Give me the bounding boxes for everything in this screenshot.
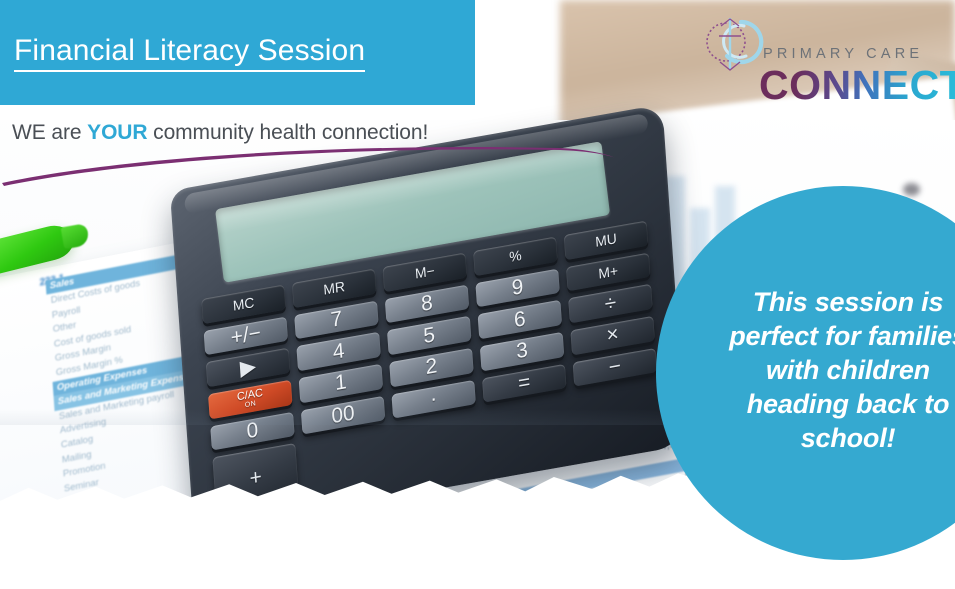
- calculator-key-label: 9: [511, 275, 524, 301]
- calculator-key-label: 0: [246, 418, 259, 444]
- desk-object-blur-2: [903, 183, 920, 196]
- calculator-key-label: 8: [420, 291, 433, 317]
- tagline-accent: YOUR: [87, 121, 147, 144]
- calculator-key-label: =: [517, 370, 531, 396]
- page-title: Financial Literacy Session: [14, 34, 365, 72]
- calculator-key-label: M+: [598, 262, 619, 281]
- financial-literacy-flyer: 223.1 SalesDirect Costs of goodsPayrollO…: [0, 0, 955, 589]
- logo: PRIMARY CARE CONNECT: [697, 12, 937, 108]
- calculator-key-label: M−: [414, 262, 435, 281]
- calculator-key-label: MC: [232, 294, 255, 314]
- calculator-key-label: 5: [423, 323, 436, 349]
- calculator-key-label: ÷: [604, 291, 617, 317]
- calculator-key-label: %: [509, 247, 522, 265]
- calculator-key-label: 2: [425, 354, 438, 380]
- calculator-key-label: 7: [330, 307, 343, 333]
- header-banner: Financial Literacy Session: [0, 0, 475, 105]
- calculator-key-label: MU: [595, 230, 618, 250]
- calculator-key: =: [482, 363, 566, 402]
- calculator-key-label: −: [608, 354, 622, 380]
- calculator-key-sublabel: ON: [245, 400, 257, 409]
- tagline: WE are YOUR community health connection!: [12, 121, 428, 145]
- calculator-key-label: ·: [429, 386, 438, 411]
- calculator-key: −: [573, 347, 657, 386]
- calculator-key-label: 4: [332, 338, 345, 364]
- calculator-key-label: +: [249, 465, 263, 491]
- calculator-key-label: 00: [331, 401, 356, 429]
- primary-care-connect-logo-mark-icon: [701, 14, 765, 76]
- calculator-key-label: 1: [334, 370, 347, 396]
- calculator-key-label: 3: [515, 338, 528, 364]
- tagline-before: WE are: [12, 121, 87, 144]
- callout-text: This session is perfect for families wit…: [718, 285, 955, 455]
- tagline-after: community health connection!: [147, 121, 428, 144]
- calculator-key-label: MR: [323, 278, 346, 298]
- calculator-key-label: 6: [513, 307, 526, 333]
- logo-connect-text: CONNECT: [759, 62, 955, 109]
- calculator-key: ·: [391, 379, 475, 418]
- calculator-key-label: +/−: [230, 321, 262, 350]
- calculator-key-label: ▶: [239, 354, 257, 382]
- logo-primary-care-text: PRIMARY CARE: [763, 46, 923, 62]
- calculator-key: 00: [301, 395, 385, 434]
- calculator-key-label: ×: [606, 322, 620, 348]
